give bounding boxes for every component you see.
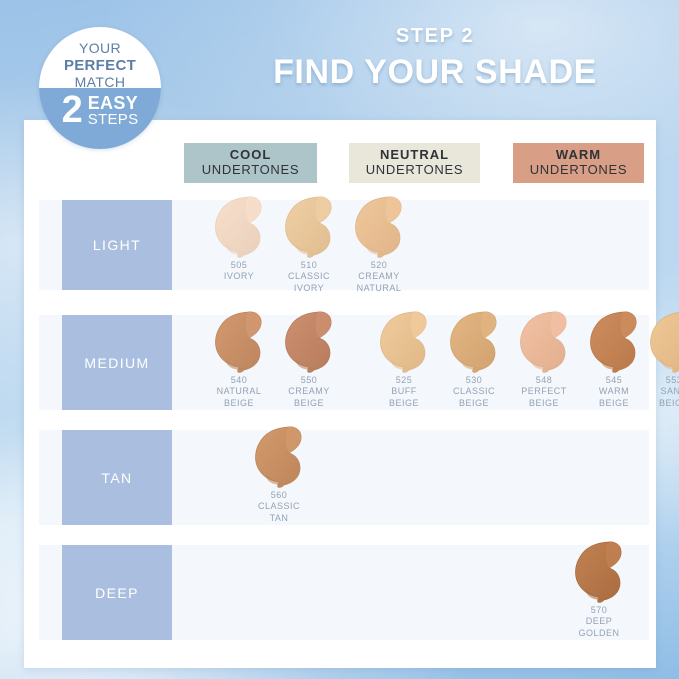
undertone-header-warm: WARMUNDERTONES [513,143,644,183]
foundation-smear-icon [509,309,579,375]
foundation-smear-icon [344,194,414,260]
shade-row-tan: TAN560CLASSIC TAN [39,430,649,525]
infographic-stage: STEP 2 FIND YOUR SHADE YOUR PERFECT MATC… [0,0,679,679]
badge-top-text: YOUR PERFECT MATCH [39,40,161,91]
shade-cell-530[interactable]: 530CLASSIC BEIGE [439,309,509,409]
shade-swatch-520[interactable] [344,194,414,260]
badge-line-2: PERFECT [39,57,161,75]
foundation-smear-icon [439,309,509,375]
foundation-smear-icon [204,309,274,375]
shade-swatch-548[interactable] [509,309,579,375]
badge-steps-stack: EASY STEPS [88,94,139,127]
badge-line-1: YOUR [39,40,161,57]
shade-chart-card: COOLUNDERTONESNEUTRALUNDERTONESWARMUNDER… [24,120,656,668]
shade-swatch-530[interactable] [439,309,509,375]
undertone-header-row: COOLUNDERTONESNEUTRALUNDERTONESWARMUNDER… [24,143,656,183]
shade-cell-540[interactable]: 540NATURAL BEIGE [204,309,274,409]
shade-row-light: LIGHT505IVORY510CLASSIC IVORY520CREAMY N… [39,200,649,290]
shade-cell-550[interactable]: 550CREAMY BEIGE [274,309,344,409]
shade-code: 510 [274,260,344,271]
shade-code: 550 [274,375,344,386]
undertone-header-subtitle: UNDERTONES [366,163,464,178]
badge-easy-label: EASY [88,94,139,112]
shade-swatch-540[interactable] [204,309,274,375]
shade-name: CLASSIC BEIGE [439,386,509,409]
undertone-header-title: NEUTRAL [380,148,449,163]
foundation-smear-icon [274,194,344,260]
shade-code: 530 [439,375,509,386]
badge-line-3: MATCH [39,74,161,91]
shade-swatch-570[interactable] [564,539,634,605]
badge-steps-label: STEPS [88,112,139,127]
shade-swatch-510[interactable] [274,194,344,260]
shade-swatch-525[interactable] [369,309,439,375]
shade-cell-510[interactable]: 510CLASSIC IVORY [274,194,344,294]
badge-step-count: 2 [62,91,83,129]
shade-name: CREAMY BEIGE [274,386,344,409]
step-label: STEP 2 [205,26,665,46]
shade-code: 540 [204,375,274,386]
shade-code: 560 [244,490,314,501]
foundation-smear-icon [564,539,634,605]
shade-name: CLASSIC TAN [244,501,314,524]
shade-name: BUFF BEIGE [369,386,439,409]
shade-cell-553[interactable]: 553SAND BEIGE [639,309,679,409]
shade-code: 525 [369,375,439,386]
undertone-header-subtitle: UNDERTONES [202,163,300,178]
shade-code: 520 [344,260,414,271]
shade-name: CREAMY NATURAL [344,271,414,294]
headline-block: STEP 2 FIND YOUR SHADE [205,26,665,89]
shade-cell-560[interactable]: 560CLASSIC TAN [244,424,314,524]
shade-name: IVORY [204,271,274,282]
foundation-smear-icon [204,194,274,260]
row-label-medium: MEDIUM [62,315,172,410]
shade-swatch-560[interactable] [244,424,314,490]
undertone-header-neutral: NEUTRALUNDERTONES [349,143,480,183]
shade-row-deep: DEEP570DEEP GOLDEN [39,545,649,640]
shade-cell-548[interactable]: 548PERFECT BEIGE [509,309,579,409]
row-label-tan: TAN [62,430,172,525]
shade-name: PERFECT BEIGE [509,386,579,409]
shade-swatch-550[interactable] [274,309,344,375]
shade-code: 570 [564,605,634,616]
shade-cell-570[interactable]: 570DEEP GOLDEN [564,539,634,639]
shade-cell-505[interactable]: 505IVORY [204,194,274,283]
page-title: FIND YOUR SHADE [205,55,665,89]
shade-cell-525[interactable]: 525BUFF BEIGE [369,309,439,409]
shade-swatch-553[interactable] [639,309,679,375]
shade-name: NATURAL BEIGE [204,386,274,409]
shade-name: SAND BEIGE [639,386,679,409]
foundation-smear-icon [639,309,679,375]
shade-code: 553 [639,375,679,386]
row-label-light: LIGHT [62,200,172,290]
foundation-smear-icon [369,309,439,375]
perfect-match-badge: YOUR PERFECT MATCH 2 EASY STEPS [39,27,161,149]
shade-cell-520[interactable]: 520CREAMY NATURAL [344,194,414,294]
undertone-header-title: COOL [230,148,272,163]
undertone-header-subtitle: UNDERTONES [530,163,628,178]
shade-swatch-505[interactable] [204,194,274,260]
shade-code: 548 [509,375,579,386]
row-label-deep: DEEP [62,545,172,640]
shade-row-medium: MEDIUM540NATURAL BEIGE550CREAMY BEIGE525… [39,315,649,410]
shade-code: 505 [204,260,274,271]
shade-name: CLASSIC IVORY [274,271,344,294]
undertone-header-title: WARM [556,148,601,163]
undertone-header-cool: COOLUNDERTONES [184,143,317,183]
foundation-smear-icon [244,424,314,490]
shade-name: DEEP GOLDEN [564,616,634,639]
foundation-smear-icon [274,309,344,375]
badge-bottom-text: 2 EASY STEPS [39,91,161,129]
